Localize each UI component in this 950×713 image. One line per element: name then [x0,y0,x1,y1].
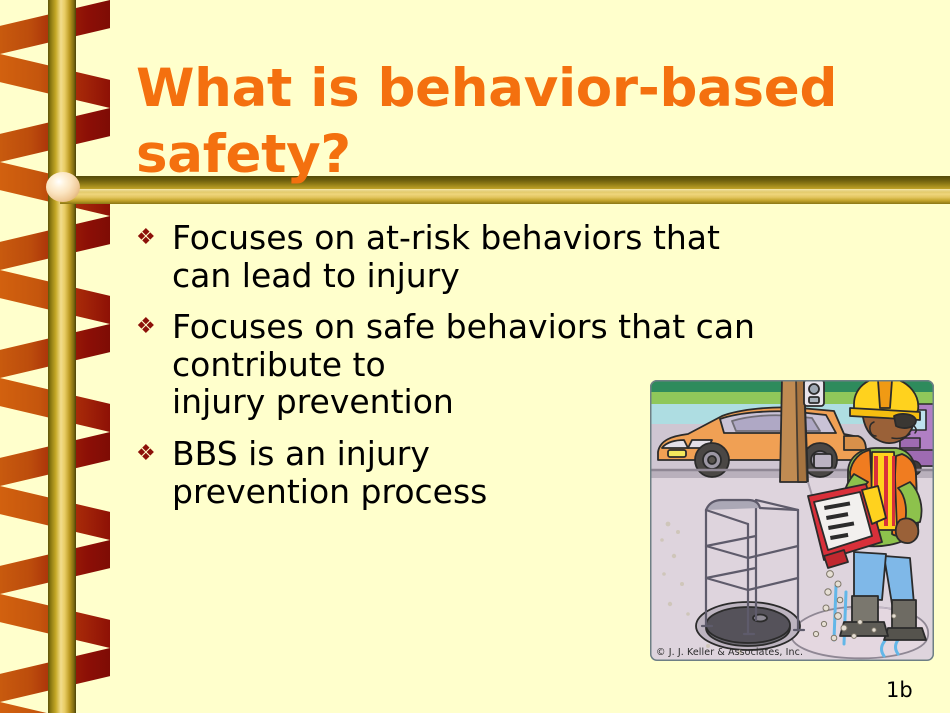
ribbon-decoration [0,0,130,713]
diamond-cluster-bullet-icon: ❖ [136,435,172,465]
slide-canvas: What is behavior-based safety? ❖Focuses … [0,0,950,713]
vertical-gold-pole [48,0,76,713]
clipart-copyright-notice: © J. J. Keller & Associates, Inc. [656,647,803,658]
diamond-cluster-bullet-icon: ❖ [136,308,172,338]
diamond-cluster-bullet-icon: ❖ [136,219,172,249]
slide-title: What is behavior-based safety? [136,56,926,190]
pole-top-cap [48,0,76,3]
bullet-text: Focuses on at-risk behaviors that can le… [172,219,936,294]
bullet-item: ❖Focuses on at-risk behaviors that can l… [136,219,936,294]
gold-bead-knob [46,172,80,202]
clipart-illustration [648,378,936,663]
page-number: 1b [886,678,913,702]
gold-bar-highlight [60,189,950,193]
